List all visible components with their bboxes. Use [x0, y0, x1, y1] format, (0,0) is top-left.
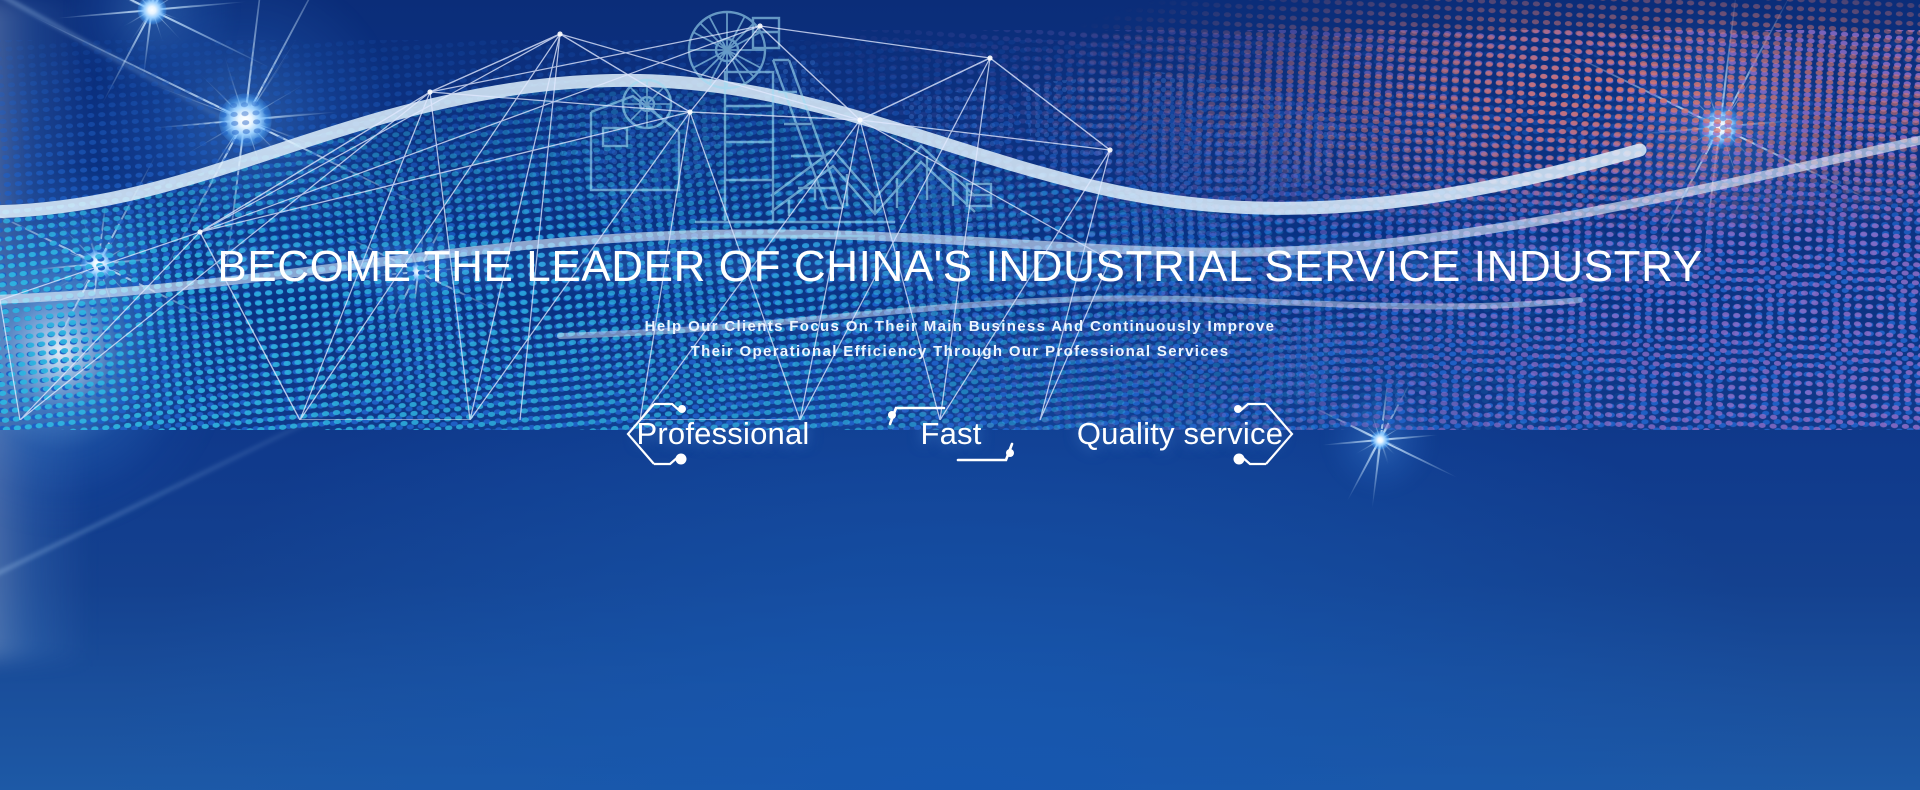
hero-banner: BECOME THE LEADER OF CHINA'S INDUSTRIAL … — [0, 0, 1920, 790]
banner-content: BECOME THE LEADER OF CHINA'S INDUSTRIAL … — [0, 0, 1920, 790]
subtitle-line-2: Their Operational Efficiency Through Our… — [645, 339, 1276, 364]
feature-tag-quality-service[interactable]: Quality service — [1054, 398, 1306, 470]
page-title: BECOME THE LEADER OF CHINA'S INDUSTRIAL … — [217, 242, 1702, 292]
feature-tag-list: Professional Fast Q — [614, 398, 1306, 470]
feature-tag-professional[interactable]: Professional — [614, 398, 832, 470]
feature-tag-label: Professional — [621, 416, 826, 452]
subtitle-line-1: Help Our Clients Focus On Their Main Bus… — [645, 314, 1276, 339]
page-subtitle: Help Our Clients Focus On Their Main Bus… — [645, 314, 1276, 364]
feature-tag-label: Fast — [904, 416, 997, 452]
feature-tag-label: Quality service — [1061, 416, 1299, 452]
feature-tag-fast[interactable]: Fast — [882, 398, 1020, 470]
